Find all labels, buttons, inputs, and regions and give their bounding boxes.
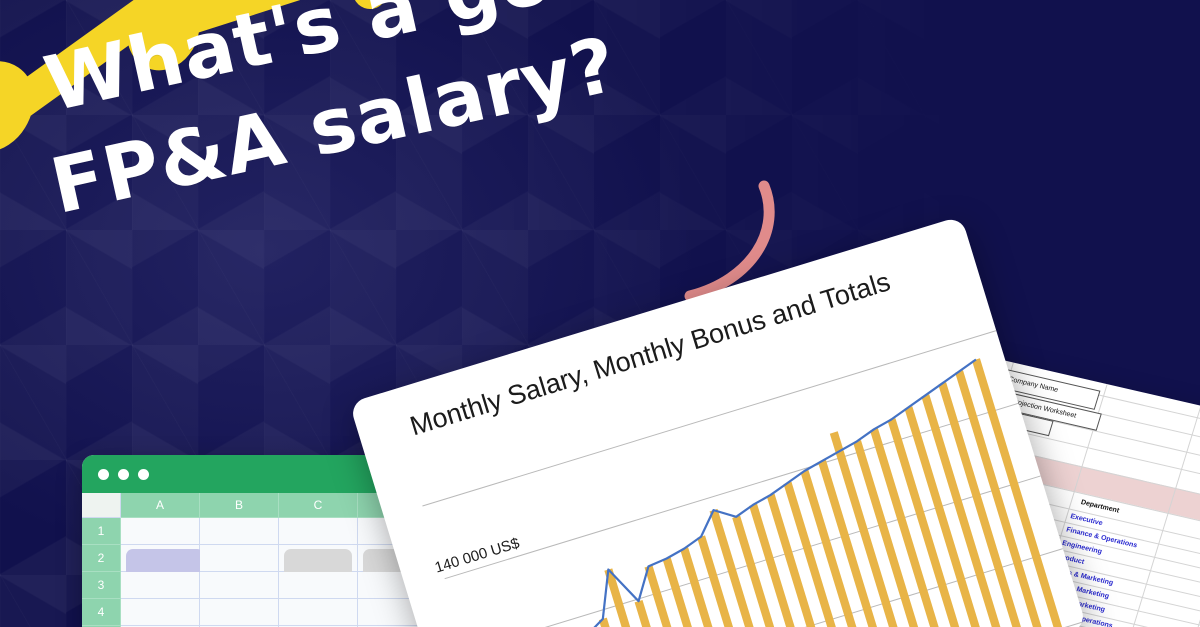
table-row: 2 — [82, 545, 437, 572]
cell-c3[interactable] — [279, 572, 358, 599]
spreadsheet-row-4[interactable]: 4 — [82, 599, 121, 626]
table-row: 1 — [82, 518, 437, 545]
spreadsheet-row-2[interactable]: 2 — [82, 545, 121, 572]
cell-a3[interactable] — [121, 572, 200, 599]
cell-a2[interactable] — [121, 545, 200, 572]
spreadsheet-col-b[interactable]: B — [200, 493, 279, 518]
window-dot-minimize-icon[interactable] — [118, 469, 129, 480]
table-row: 3 — [82, 572, 437, 599]
cell-c2[interactable] — [279, 545, 358, 572]
promo-banner: What's a good FP&A salary? A B C D 1 — [0, 0, 1200, 627]
cell-b1[interactable] — [200, 518, 279, 545]
cell-c4[interactable] — [279, 599, 358, 626]
spreadsheet-row-1[interactable]: 1 — [82, 518, 121, 545]
window-dot-close-icon[interactable] — [98, 469, 109, 480]
cell-a4[interactable] — [121, 599, 200, 626]
cell-b4[interactable] — [200, 599, 279, 626]
cell-b3[interactable] — [200, 572, 279, 599]
window-dot-maximize-icon[interactable] — [138, 469, 149, 480]
spreadsheet-col-c[interactable]: C — [279, 493, 358, 518]
list-item: Engineering — [1061, 540, 1103, 556]
table-row: 4 — [82, 599, 437, 626]
cell-a1[interactable] — [121, 518, 200, 545]
spreadsheet-row-3[interactable]: 3 — [82, 572, 121, 599]
cell-b2[interactable] — [200, 545, 279, 572]
cell-c1[interactable] — [279, 518, 358, 545]
spreadsheet-col-a[interactable]: A — [121, 493, 200, 518]
spreadsheet-corner-cell[interactable] — [82, 493, 121, 518]
